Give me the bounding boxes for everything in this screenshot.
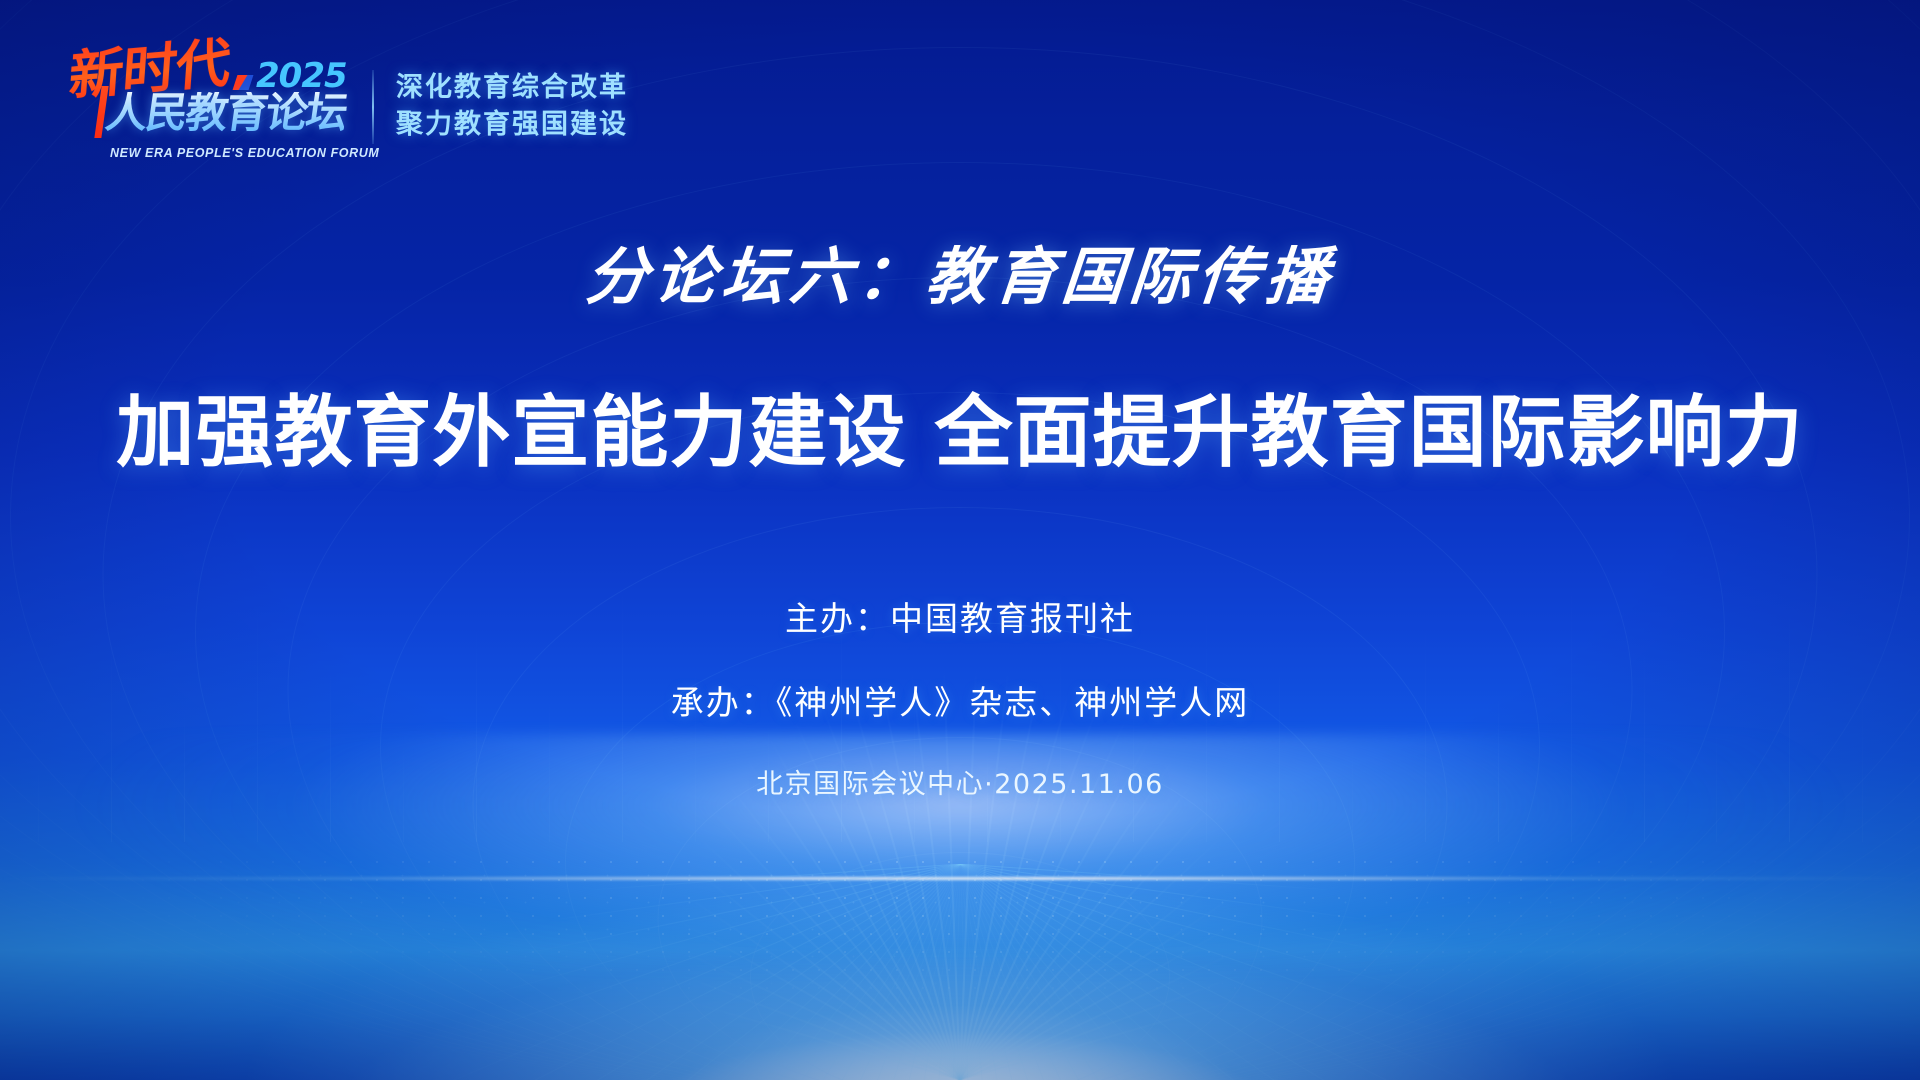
presentation-backdrop: 新时代 2025 人民教育论坛 NEW ERA PEOPLE'S EDUCATI… xyxy=(0,0,1920,1080)
organizer-label: 承办：《神州学人》杂志、神州学人网 xyxy=(0,676,1920,724)
header-slogan: 深化教育综合改革 聚力教育强国建设 xyxy=(396,73,628,139)
slogan-line-2: 聚力教育强国建设 xyxy=(396,110,628,139)
sub-forum-title: 分论坛六：教育国际传播 xyxy=(0,246,1920,308)
forum-logo: 新时代 2025 人民教育论坛 NEW ERA PEOPLE'S EDUCATI… xyxy=(58,34,350,174)
logo-forum-name: 人民教育论坛 xyxy=(103,92,349,134)
host-label: 主办：中国教育报刊社 xyxy=(0,592,1920,640)
header-logo-bar: 新时代 2025 人民教育论坛 NEW ERA PEOPLE'S EDUCATI… xyxy=(58,34,628,174)
header-divider xyxy=(372,70,374,144)
venue-date-label: 北京国际会议中心·2025.11.06 xyxy=(0,762,1920,801)
page-title: 加强教育外宣能力建设 全面提升教育国际影响力 xyxy=(0,392,1920,475)
logo-english-name: NEW ERA PEOPLE'S EDUCATION FORUM xyxy=(110,146,379,160)
slogan-line-1: 深化教育综合改革 xyxy=(396,73,628,102)
